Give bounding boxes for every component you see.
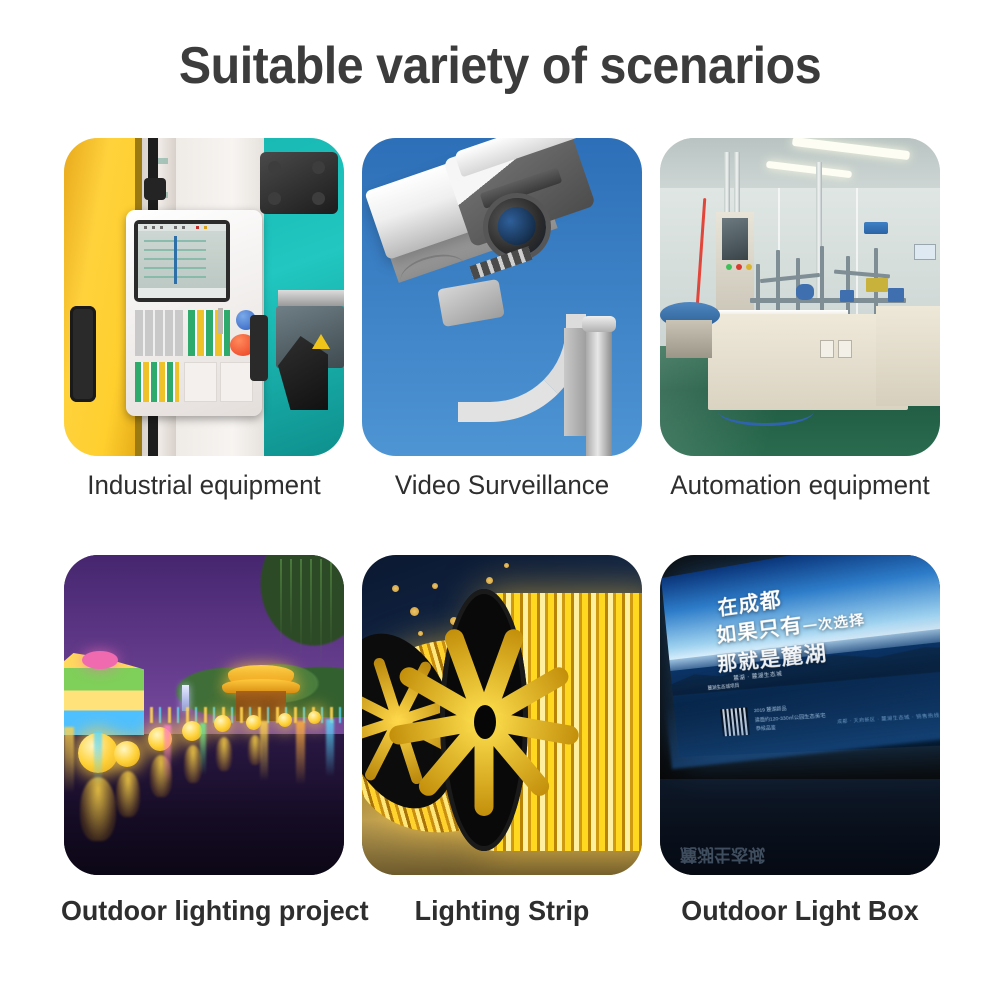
cnc-control-panel[interactable] <box>126 210 262 416</box>
blank-panel-left <box>184 362 217 402</box>
scenario-label-video-surveillance: Video Surveillance <box>359 470 645 501</box>
tile-wrap <box>55 138 353 456</box>
tile-wrap <box>651 138 949 456</box>
cabinet-display-panel <box>722 218 748 260</box>
numeric-keypad[interactable] <box>135 310 183 356</box>
pole-cap <box>582 316 616 332</box>
lighting-strip-photo[interactable] <box>362 555 642 875</box>
automation-equipment-photo[interactable] <box>660 138 940 456</box>
status-led-green <box>726 264 732 270</box>
floating-lantern-orb <box>246 715 261 730</box>
black-clamp-head <box>260 152 338 214</box>
scenario-cell-video-surveillance[interactable]: Video Surveillance <box>353 138 651 501</box>
lcd-screen[interactable] <box>138 224 226 298</box>
scenario-label-outdoor-light-box: Outdoor Light Box <box>657 895 943 927</box>
pink-lantern-figure <box>82 651 118 669</box>
wall-sign <box>864 222 888 234</box>
mounting-pole <box>586 324 612 456</box>
steel-plate <box>278 290 344 306</box>
outdoor-lighting-project-photo[interactable] <box>64 555 344 875</box>
blank-panel-right <box>220 362 253 402</box>
bolt-icon <box>312 161 325 174</box>
scenario-label-lighting-strip: Lighting Strip <box>359 895 645 927</box>
orb-water-reflection <box>116 771 140 817</box>
panel-mount-clamp <box>250 315 268 381</box>
scenario-row-2: Outdoor lighting project <box>55 555 950 927</box>
blue-hose <box>718 396 814 426</box>
orb-water-reflection <box>80 777 116 841</box>
scenarios-page: Suitable variety of scenarios <box>0 0 1000 1000</box>
light-reflection-streak <box>94 731 102 785</box>
light-reflection-streak <box>164 725 171 783</box>
bokeh-light <box>486 577 493 584</box>
screen-toolbar <box>138 224 226 231</box>
lower-keypad[interactable] <box>135 362 179 402</box>
bokeh-light <box>418 631 423 636</box>
wall-monitor <box>914 244 936 260</box>
status-led-red <box>736 264 742 270</box>
reflected-text: 麓湖生态城 <box>680 844 765 869</box>
scenario-cell-lighting-strip[interactable]: Lighting Strip <box>353 555 651 927</box>
bolt-icon <box>268 161 281 174</box>
bokeh-light <box>432 583 438 589</box>
screen-axis-line <box>174 236 177 284</box>
page-title: Suitable variety of scenarios <box>35 36 965 96</box>
tile-wrap <box>353 138 651 456</box>
machine-control-box[interactable] <box>820 340 834 358</box>
scenario-cell-automation-equipment[interactable]: Automation equipment <box>651 138 949 501</box>
light-reflection-streak <box>326 719 334 777</box>
light-reflection-streak <box>296 721 305 785</box>
warning-triangle-icon <box>312 334 330 349</box>
bolt-icon <box>312 192 325 205</box>
tile-wrap <box>55 555 353 875</box>
scenario-grid: Industrial equipment <box>55 138 950 927</box>
scenario-cell-industrial-equipment[interactable]: Industrial equipment <box>55 138 353 501</box>
lcd-bezel <box>134 220 230 302</box>
bokeh-light <box>392 585 399 592</box>
panel-slot <box>218 308 223 334</box>
scenario-label-outdoor-lighting-project: Outdoor lighting project <box>61 895 347 927</box>
outdoor-light-box-photo[interactable]: 在成都 如果只有一次选择 那就是麓湖 麓湖 · 麓湖生态城 麓湖生态城项目 20… <box>660 555 940 875</box>
light-reflection-streak <box>64 727 74 793</box>
video-surveillance-photo[interactable] <box>362 138 642 456</box>
tile-wrap: 在成都 如果只有一次选择 那就是麓湖 麓湖 · 麓湖生态城 麓湖生态城项目 20… <box>651 555 949 875</box>
machine-control-box[interactable] <box>838 340 852 358</box>
bokeh-light <box>410 607 419 616</box>
tile-wrap <box>353 555 651 875</box>
floating-lantern-orb <box>308 711 321 724</box>
bokeh-light <box>504 563 509 568</box>
feeder-base <box>666 320 712 358</box>
blue-component <box>888 288 904 302</box>
rod-joint <box>144 178 166 200</box>
scenario-row-1: Industrial equipment <box>55 138 950 501</box>
industrial-equipment-photo[interactable] <box>64 138 344 456</box>
floating-lantern-orb <box>114 741 140 767</box>
scenario-label-industrial-equipment: Industrial equipment <box>61 470 347 501</box>
scenario-cell-outdoor-lighting-project[interactable]: Outdoor lighting project <box>55 555 353 927</box>
orb-water-reflection <box>216 737 232 771</box>
screen-statusbar <box>138 288 226 298</box>
light-reflection-streak <box>260 721 268 781</box>
automation-machine-body-right <box>876 306 940 406</box>
yellow-component <box>866 278 888 292</box>
willow-tree <box>230 555 344 681</box>
blue-component <box>840 290 854 302</box>
pole-bracket <box>564 328 588 436</box>
reel-center-cap <box>474 705 496 739</box>
scenario-cell-outdoor-light-box[interactable]: 在成都 如果只有一次选择 那就是麓湖 麓湖 · 麓湖生态城 麓湖生态城项目 20… <box>651 555 949 927</box>
floating-lantern-orb <box>214 715 231 732</box>
lens-glass <box>493 202 541 250</box>
function-keypad[interactable] <box>188 310 230 356</box>
bolt-icon <box>268 192 281 205</box>
blue-component <box>796 284 814 300</box>
door-handle <box>70 306 96 402</box>
floating-lantern-orb <box>182 721 202 741</box>
scenario-label-automation-equipment: Automation equipment <box>657 470 943 501</box>
floating-lantern-orb <box>278 713 292 727</box>
light-reflection-streak <box>200 723 206 775</box>
